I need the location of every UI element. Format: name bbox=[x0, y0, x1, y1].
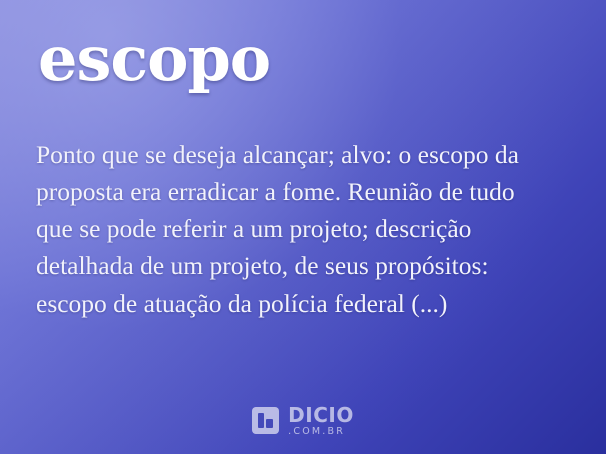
headword: escopo bbox=[38, 26, 570, 92]
logo-bar-right bbox=[266, 419, 273, 428]
definition-card: escopo Ponto que se deseja alcançar; alv… bbox=[0, 0, 606, 454]
logo-bar-left bbox=[258, 413, 264, 428]
card-content: escopo Ponto que se deseja alcançar; alv… bbox=[0, 0, 606, 322]
brand-name: DICIO bbox=[288, 405, 354, 425]
brand-footer: DICIO .COM.BR bbox=[0, 405, 606, 437]
brand-text: DICIO .COM.BR bbox=[288, 405, 354, 437]
brand-domain: .COM.BR bbox=[288, 427, 354, 437]
definition-text: Ponto que se deseja alcançar; alvo: o es… bbox=[36, 136, 556, 322]
dicio-logo-icon bbox=[252, 407, 279, 434]
